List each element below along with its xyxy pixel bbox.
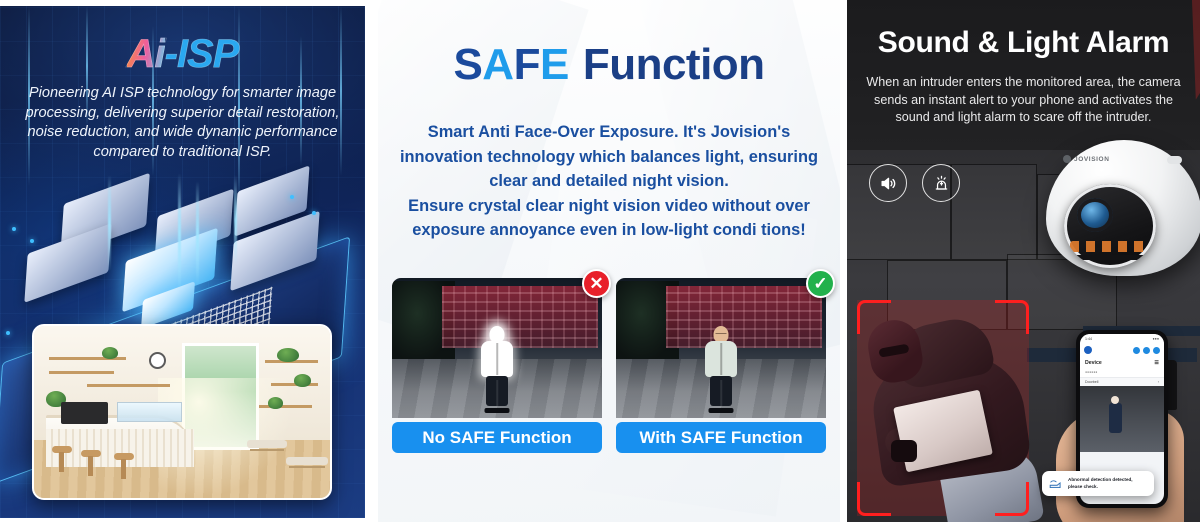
night-shot-balanced bbox=[616, 278, 826, 418]
alert-notification-toast[interactable]: Abnormal detection detected, please chec… bbox=[1042, 471, 1154, 496]
product-feature-board: Ai-ISP Pioneering AI ISP technology for … bbox=[0, 0, 1200, 522]
title-letter-e: E bbox=[540, 40, 569, 89]
list-view-icon[interactable]: ☰ bbox=[1154, 360, 1159, 366]
night-shot-overexposed bbox=[392, 278, 602, 418]
live-preview[interactable] bbox=[1080, 386, 1164, 452]
cafe-sample-photo bbox=[32, 324, 332, 500]
logo-ai-text: Ai bbox=[127, 32, 165, 76]
title-letter-s: S bbox=[453, 40, 482, 89]
security-camera: JOVISION bbox=[1036, 140, 1200, 290]
safe-description: Smart Anti Face-Over Exposure. It's Jovi… bbox=[394, 120, 824, 243]
panel-sound-light-alarm: Sound & Light Alarm When an intruder ent… bbox=[847, 0, 1200, 522]
app-logo-icon bbox=[1084, 346, 1092, 354]
device-group-row[interactable]: Doorbell › bbox=[1080, 377, 1164, 386]
ai-isp-description: Pioneering AI ISP technology for smarter… bbox=[14, 84, 351, 162]
person-figure bbox=[480, 326, 514, 410]
status-time: 1:44 bbox=[1085, 337, 1092, 341]
safe-body-line-4: Ensure crystal clear night vision video … bbox=[394, 194, 824, 219]
person-figure bbox=[704, 326, 738, 410]
speaker-icon[interactable] bbox=[869, 164, 907, 202]
check-badge-icon: ✓ bbox=[806, 269, 835, 298]
device-title: Device bbox=[1085, 360, 1102, 366]
notification-text: Abnormal detection detected, please chec… bbox=[1068, 477, 1147, 490]
chevron-right-icon: › bbox=[1158, 380, 1159, 384]
panel-ai-isp: Ai-ISP Pioneering AI ISP technology for … bbox=[0, 6, 365, 518]
alarm-light-icon[interactable] bbox=[922, 164, 960, 202]
detection-bounding-box bbox=[857, 300, 1029, 516]
more-icon[interactable] bbox=[1153, 347, 1160, 354]
camera-brand-label: JOVISION bbox=[1074, 156, 1110, 163]
camera-alert-icon bbox=[1049, 478, 1063, 489]
add-device-icon[interactable] bbox=[1133, 347, 1140, 354]
safe-body-line-1: Smart Anti Face-Over Exposure. It's Jovi… bbox=[394, 120, 824, 145]
safe-body-line-3: clear and detailed night vision. bbox=[394, 169, 824, 194]
preview-person bbox=[1109, 403, 1122, 433]
infrared-leds bbox=[1070, 241, 1148, 252]
cafe-scene bbox=[34, 326, 330, 498]
title-letter-f: F bbox=[514, 40, 540, 89]
title-word-function: Function bbox=[583, 40, 765, 89]
safe-comparison-pair: ✕ No SAFE Function ✓ bbox=[392, 278, 826, 453]
safe-body-line-5: exposure annoyance even in low-light con… bbox=[394, 218, 824, 243]
comparison-label-no-safe: No SAFE Function bbox=[392, 422, 602, 453]
alarm-description: When an intruder enters the monitored ar… bbox=[859, 74, 1188, 127]
ai-isp-logo: Ai-ISP bbox=[0, 32, 365, 77]
title-letter-a: A bbox=[482, 40, 513, 89]
logo-isp-text: -ISP bbox=[165, 32, 239, 76]
comparison-with-safe: ✓ With SAFE Function bbox=[616, 278, 826, 453]
safe-body-line-2: innovation technology which balances lig… bbox=[394, 145, 824, 170]
cross-badge-icon: ✕ bbox=[582, 269, 611, 298]
comparison-label-with-safe: With SAFE Function bbox=[616, 422, 826, 453]
comparison-no-safe: ✕ No SAFE Function bbox=[392, 278, 602, 453]
safe-function-title: SAFEFunction bbox=[378, 40, 840, 90]
device-header: Device ☰ bbox=[1080, 357, 1164, 369]
scan-icon[interactable] bbox=[1143, 347, 1150, 354]
camera-lens bbox=[1077, 198, 1113, 232]
status-bar: 1:44 ●●● bbox=[1080, 334, 1164, 343]
alarm-title: Sound & Light Alarm bbox=[847, 26, 1200, 60]
panel-safe-function: SAFEFunction Smart Anti Face-Over Exposu… bbox=[378, 0, 840, 522]
app-top-bar bbox=[1080, 343, 1164, 357]
status-icons: ●●● bbox=[1152, 337, 1159, 341]
device-subtitle: ●●●●●● bbox=[1080, 369, 1164, 377]
phone-in-hand: 1:44 ●●● Device ☰ ●●●●●● bbox=[1054, 322, 1194, 522]
device-group-label: Doorbell bbox=[1085, 380, 1098, 384]
camera-lens-ring bbox=[1064, 184, 1156, 268]
